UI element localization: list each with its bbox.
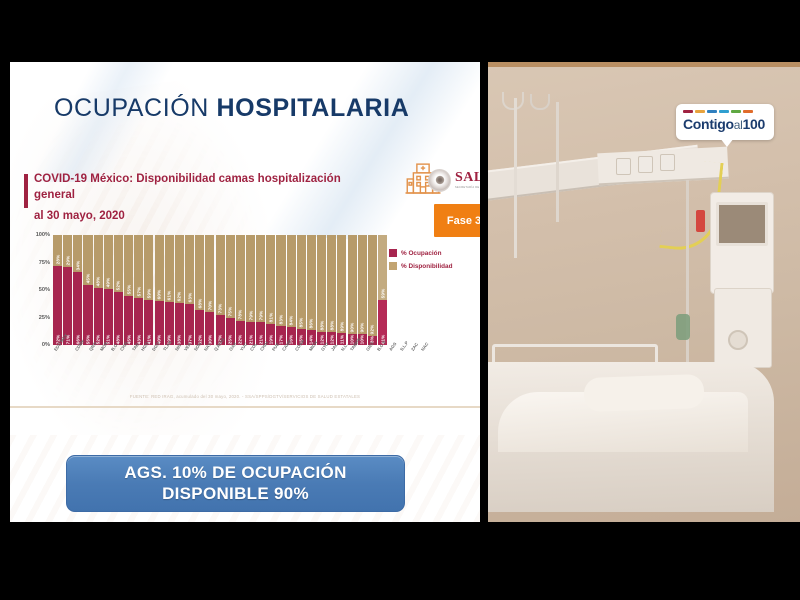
ventilator-base-unit xyxy=(714,288,772,368)
bar-value-label: 86% xyxy=(309,318,314,328)
bar-segment-disponibilidad: 81% xyxy=(266,235,275,324)
chart-bar: 34%66% xyxy=(73,235,82,345)
bar-segment-ocupacion: 52% xyxy=(94,288,103,345)
contigo-number: 100 xyxy=(743,116,765,132)
bar-value-label: 90% xyxy=(350,323,355,333)
bar-value-label: 73% xyxy=(218,304,223,314)
bar-value-label: 70% xyxy=(207,301,212,311)
y-axis-tick: 50% xyxy=(39,287,50,293)
chart-bar: 70%30% xyxy=(205,235,214,345)
bar-value-label: 60% xyxy=(157,290,162,300)
bar-segment-disponibilidad: 89% xyxy=(337,235,346,333)
chart-x-axis-labels: EDO MEXCDMXQROMORB.C.CHISTABHGODGOTLAXSI… xyxy=(53,347,387,375)
bar-value-label: 62% xyxy=(177,292,182,302)
bar-segment-disponibilidad: 90% xyxy=(348,235,357,334)
contigo-word: Contigo xyxy=(683,116,734,132)
contigo-color-bar xyxy=(743,110,753,113)
green-bag xyxy=(676,314,690,340)
chart-bar: 52%48% xyxy=(114,235,123,345)
contigo-color-bar xyxy=(695,110,705,113)
bar-value-label: 45% xyxy=(86,273,91,283)
bar-segment-ocupacion: 48% xyxy=(114,292,123,345)
screenshot-root: OCUPACIÓN HOSPITALARIA COVID-19 México: … xyxy=(0,0,800,600)
y-axis-tick: 25% xyxy=(39,315,50,321)
bar-segment-disponibilidad: 79% xyxy=(246,235,255,322)
chart-subtitle: COVID-19 México: Disponibilidad camas ho… xyxy=(34,172,364,203)
chart-bar: 59%41% xyxy=(378,235,387,345)
wall-outlet xyxy=(638,156,653,173)
bar-segment-disponibilidad: 88% xyxy=(327,235,336,332)
bar-segment-ocupacion: 38% xyxy=(175,303,184,345)
bar-value-label: 55% xyxy=(126,284,131,294)
x-axis-tick-label: ZAC xyxy=(410,342,419,352)
bar-segment-disponibilidad: 49% xyxy=(104,235,113,289)
bar-value-label: 55% xyxy=(86,335,91,345)
bar-value-label: 78% xyxy=(238,309,243,319)
bar-value-label: 29% xyxy=(65,255,70,265)
wall-outlet xyxy=(616,158,631,175)
bar-segment-disponibilidad: 88% xyxy=(317,235,326,332)
bar-segment-ocupacion: 43% xyxy=(134,298,143,345)
bar-segment-disponibilidad: 55% xyxy=(124,235,133,296)
chart-bar: 61%39% xyxy=(165,235,174,345)
legend-item-disponibilidad: % Disponibilidad xyxy=(389,262,475,270)
chart-bar: 78%22% xyxy=(236,235,245,345)
bar-segment-ocupacion: 39% xyxy=(165,302,174,345)
bar-segment-disponibilidad: 52% xyxy=(114,235,123,292)
chart-bar: 63%37% xyxy=(185,235,194,345)
chart-bar: 85%15% xyxy=(297,235,306,345)
chart-bar: 83%17% xyxy=(276,235,285,345)
stacked-bar-chart: 0%25%50%75%100% 28%72%29%71%34%66%45%55%… xyxy=(22,235,477,363)
bar-segment-disponibilidad: 34% xyxy=(73,235,82,272)
chart-bar: 88%12% xyxy=(327,235,336,345)
photo-top-band xyxy=(488,62,800,67)
lower-third-banner: AGS. 10% DE OCUPACIÓN DISPONIBLE 90% xyxy=(66,455,405,512)
legend-swatch-ocupacion xyxy=(389,249,397,257)
bar-value-label: 57% xyxy=(136,286,141,296)
chart-bar: 90%10% xyxy=(348,235,357,345)
contigo-color-bar xyxy=(719,110,729,113)
bar-segment-disponibilidad: 45% xyxy=(83,235,92,285)
equipment-stand xyxy=(686,180,689,370)
bar-value-label: 79% xyxy=(248,310,253,320)
chart-source-note: FUENTE: RED IRAG, acumulado del 30 mayo,… xyxy=(10,394,480,399)
iv-pole xyxy=(514,98,517,258)
chart-bar: 60%40% xyxy=(155,235,164,345)
salud-logo-name: SALUD xyxy=(455,171,480,185)
salud-logo-subtitle: SECRETARÍA DE SALUD xyxy=(455,187,480,190)
presentation-slide: OCUPACIÓN HOSPITALARIA COVID-19 México: … xyxy=(10,62,480,435)
chart-legend: % Ocupación % Disponibilidad xyxy=(389,249,475,275)
contigo-al-100-logo: Contigoal100 xyxy=(676,104,774,140)
bar-value-label: 59% xyxy=(380,288,385,298)
chart-bar: 28%72% xyxy=(53,235,62,345)
bar-segment-disponibilidad: 70% xyxy=(205,235,214,312)
bar-segment-disponibilidad: 57% xyxy=(134,235,143,298)
legend-item-ocupacion: % Ocupación xyxy=(389,249,475,257)
iv-hook xyxy=(530,94,550,110)
iv-pole xyxy=(556,102,559,222)
bar-segment-disponibilidad: 73% xyxy=(216,235,225,315)
bar-segment-disponibilidad: 79% xyxy=(256,235,265,322)
bed-pillow xyxy=(583,374,704,412)
bar-value-label: 61% xyxy=(167,291,172,301)
bar-segment-ocupacion: 66% xyxy=(73,272,82,345)
bar-segment-ocupacion: 37% xyxy=(185,304,194,345)
legend-label-disponibilidad: % Disponibilidad xyxy=(401,263,452,270)
bar-segment-disponibilidad: 48% xyxy=(94,235,103,288)
bar-value-label: 49% xyxy=(106,277,111,287)
banner-line-2: DISPONIBLE 90% xyxy=(162,484,309,505)
chart-bar: 29%71% xyxy=(63,235,72,345)
chart-bar: 89%11% xyxy=(337,235,346,345)
bar-segment-disponibilidad: 78% xyxy=(236,235,245,321)
bar-segment-ocupacion: 41% xyxy=(378,300,387,345)
chart-bar: 73%27% xyxy=(216,235,225,345)
chart-bar: 86%14% xyxy=(307,235,316,345)
y-axis-tick: 100% xyxy=(36,232,50,238)
bar-segment-ocupacion: 41% xyxy=(144,300,153,345)
chart-bar: 59%41% xyxy=(144,235,153,345)
bar-value-label: 83% xyxy=(278,315,283,325)
chart-bar: 57%43% xyxy=(134,235,143,345)
x-axis-tick-label: S.L.P xyxy=(399,340,409,352)
bar-segment-disponibilidad: 60% xyxy=(155,235,164,301)
ventilator-knob xyxy=(728,330,748,350)
bar-segment-disponibilidad: 92% xyxy=(368,235,377,336)
bar-value-label: 68% xyxy=(197,298,202,308)
bar-value-label: 79% xyxy=(258,310,263,320)
contigo-color-bars xyxy=(683,110,753,113)
bar-segment-disponibilidad: 68% xyxy=(195,235,204,310)
bar-value-label: 85% xyxy=(299,317,304,327)
x-axis-tick-label: AGS xyxy=(388,341,397,351)
iv-hook xyxy=(502,92,524,110)
bar-value-label: 52% xyxy=(116,281,121,291)
contigo-al-word: al xyxy=(734,118,743,132)
page-title-bold: HOSPITALARIA xyxy=(217,94,410,122)
chart-bar: 81%19% xyxy=(266,235,275,345)
monitor-screen xyxy=(716,202,768,246)
bar-segment-ocupacion: 55% xyxy=(83,285,92,346)
chart-bar: 49%51% xyxy=(104,235,113,345)
legend-label-ocupacion: % Ocupación xyxy=(401,250,441,257)
bar-segment-disponibilidad: 59% xyxy=(144,235,153,300)
chart-bar: 79%21% xyxy=(256,235,265,345)
bar-segment-ocupacion: 32% xyxy=(195,310,204,345)
chart-bar: 45%55% xyxy=(83,235,92,345)
chart-bar: 84%16% xyxy=(287,235,296,345)
bar-segment-disponibilidad: 62% xyxy=(175,235,184,303)
bar-value-label: 28% xyxy=(55,254,60,264)
chart-plot-area: 28%72%29%71%34%66%45%55%48%52%49%51%52%4… xyxy=(53,235,387,345)
bar-value-label: 48% xyxy=(96,276,101,286)
chart-bar: 68%32% xyxy=(195,235,204,345)
bar-segment-ocupacion: 30% xyxy=(205,312,214,345)
bar-value-label: 89% xyxy=(339,321,344,331)
bar-segment-disponibilidad: 28% xyxy=(53,235,62,266)
chart-date: al 30 mayo, 2020 xyxy=(34,210,125,222)
chart-bar: 48%52% xyxy=(94,235,103,345)
bar-value-label: 90% xyxy=(360,323,365,333)
chart-bar: 75%25% xyxy=(226,235,235,345)
bar-value-label: 92% xyxy=(370,325,375,335)
bar-segment-disponibilidad: 75% xyxy=(226,235,235,318)
bar-value-label: 84% xyxy=(289,316,294,326)
contigo-logo-tail xyxy=(720,138,734,147)
contigo-color-bar xyxy=(731,110,741,113)
mexican-eagle-emblem-icon xyxy=(428,169,451,192)
chart-bar: 62%38% xyxy=(175,235,184,345)
bar-value-label: 88% xyxy=(329,320,334,330)
bar-value-label: 34% xyxy=(75,261,80,271)
bar-segment-ocupacion: 40% xyxy=(155,301,164,345)
contigo-color-bar xyxy=(707,110,717,113)
bar-segment-ocupacion: 51% xyxy=(104,289,113,345)
chart-y-axis: 0%25%50%75%100% xyxy=(22,235,52,345)
status-badge: Fase 3 xyxy=(434,204,480,237)
subtitle-accent-bar xyxy=(24,174,28,208)
bar-segment-ocupacion: 72% xyxy=(53,266,62,345)
bar-segment-disponibilidad: 83% xyxy=(276,235,285,326)
bar-segment-disponibilidad: 63% xyxy=(185,235,194,304)
bar-segment-disponibilidad: 84% xyxy=(287,235,296,327)
y-axis-tick: 75% xyxy=(39,260,50,266)
chart-bar: 88%12% xyxy=(317,235,326,345)
chart-bar: 55%45% xyxy=(124,235,133,345)
bar-segment-disponibilidad: 59% xyxy=(378,235,387,300)
page-title: OCUPACIÓN HOSPITALARIA xyxy=(54,94,409,123)
bar-segment-ocupacion: 45% xyxy=(124,296,133,346)
contigo-color-bar xyxy=(683,110,693,113)
chart-bar: 79%21% xyxy=(246,235,255,345)
page-title-light: OCUPACIÓN xyxy=(54,94,217,122)
bar-segment-disponibilidad: 86% xyxy=(307,235,316,330)
x-axis-tick-label: NAC xyxy=(420,341,429,351)
y-axis-tick: 0% xyxy=(42,342,50,348)
legend-swatch-disponibilidad xyxy=(389,262,397,270)
banner-line-1: AGS. 10% DE OCUPACIÓN xyxy=(124,463,346,484)
red-clip xyxy=(696,210,705,232)
bar-segment-disponibilidad: 61% xyxy=(165,235,174,302)
slide-divider xyxy=(10,406,480,408)
bar-segment-disponibilidad: 85% xyxy=(297,235,306,329)
bar-segment-disponibilidad: 29% xyxy=(63,235,72,267)
chart-bar: 90%10% xyxy=(358,235,367,345)
bar-value-label: 75% xyxy=(228,306,233,316)
salud-logo: SALUD SECRETARÍA DE SALUD xyxy=(428,167,480,193)
bar-segment-disponibilidad: 90% xyxy=(358,235,367,334)
bar-value-label: 59% xyxy=(146,288,151,298)
bar-value-label: 81% xyxy=(268,313,273,323)
contigo-logo-text: Contigoal100 xyxy=(683,116,765,132)
bar-value-label: 88% xyxy=(319,320,324,330)
chart-bar: 92%8% xyxy=(368,235,377,345)
bar-value-label: 63% xyxy=(187,293,192,303)
